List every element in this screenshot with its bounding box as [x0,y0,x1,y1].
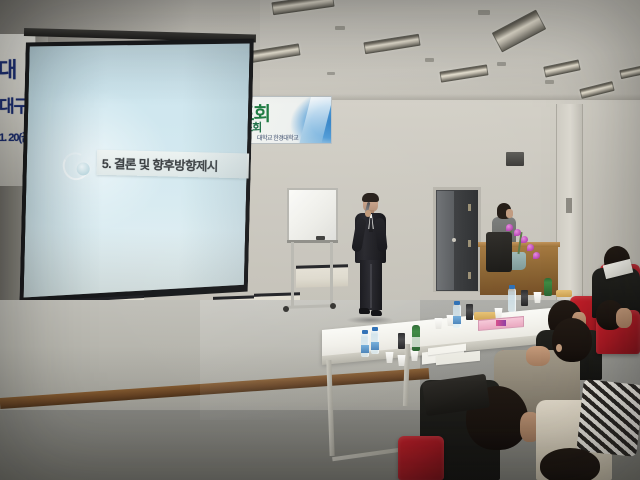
orchid-flower-icon [533,252,540,259]
ceiling-vent-icon [425,58,434,62]
audience-face [616,308,632,328]
green-bottle-label [412,337,420,347]
projection-screen: 5. 결론 및 향후방향제시 [19,33,254,310]
bottle-label [453,316,461,324]
ceiling-vent-icon [335,26,345,30]
whiteboard-marker [316,236,325,240]
snack-tray [556,290,572,297]
bottle-label [361,345,369,353]
beverage-can [466,304,473,320]
orchid-flower-icon [514,229,521,236]
banner-footer: 대학교 한경대학교 [257,133,298,142]
presenter-shoe [359,308,370,314]
whiteboard-caster-icon [283,306,289,312]
ceiling-vent-icon [478,10,490,15]
door-hinge-icon [468,272,471,279]
attendee-face [506,209,513,218]
green-bottle [544,278,552,296]
ceiling-vent-icon [327,72,335,75]
orchid-flower-icon [506,224,513,231]
wall-seam [582,104,583,304]
bottle-cap-icon [454,301,460,305]
whiteboard-stand-post [291,242,294,308]
beverage-can [398,333,405,349]
door-hinge-icon [468,240,471,247]
door-knob-icon[interactable] [452,238,456,242]
whiteboard-stand-post [330,242,333,308]
hanging-coat [486,232,512,272]
auditorium-seat [398,436,444,480]
audience-head [552,318,592,362]
audience-hand [526,346,550,366]
presenter-hand [365,210,371,217]
photograph-scene: 대 대구 · 1. 20(금) 1 표회 표회 대학교 한경대학교 5. 결론 … [0,0,640,480]
gift-box-label [496,320,506,326]
beverage-can [521,290,528,306]
wall-cabinet [296,264,348,287]
presenter-shoe [371,310,382,316]
bottle-cap-icon [509,285,515,289]
patterned-scarf [576,379,640,457]
presenter-hair [362,193,379,202]
screen-vignette [23,37,249,304]
orchid-flower-icon [527,244,534,251]
door-hinge-icon [468,204,471,211]
presenter-leg-separation [370,264,372,308]
orchid-flower-icon [521,236,528,243]
water-bottle [508,288,516,312]
ceiling-vent-icon [545,80,554,84]
bottle-label [371,342,379,350]
bottle-cap-icon [362,330,368,334]
presenter [349,194,391,322]
bottle-cap-icon [372,327,378,331]
whiteboard-surface [287,188,338,242]
audience-ear [556,344,562,352]
whiteboard-caster-icon [330,303,336,309]
ceiling-vent-icon [497,62,506,66]
wall-speaker-icon [506,152,524,166]
audience-head [540,448,600,480]
light-switch-plate[interactable] [566,198,572,213]
